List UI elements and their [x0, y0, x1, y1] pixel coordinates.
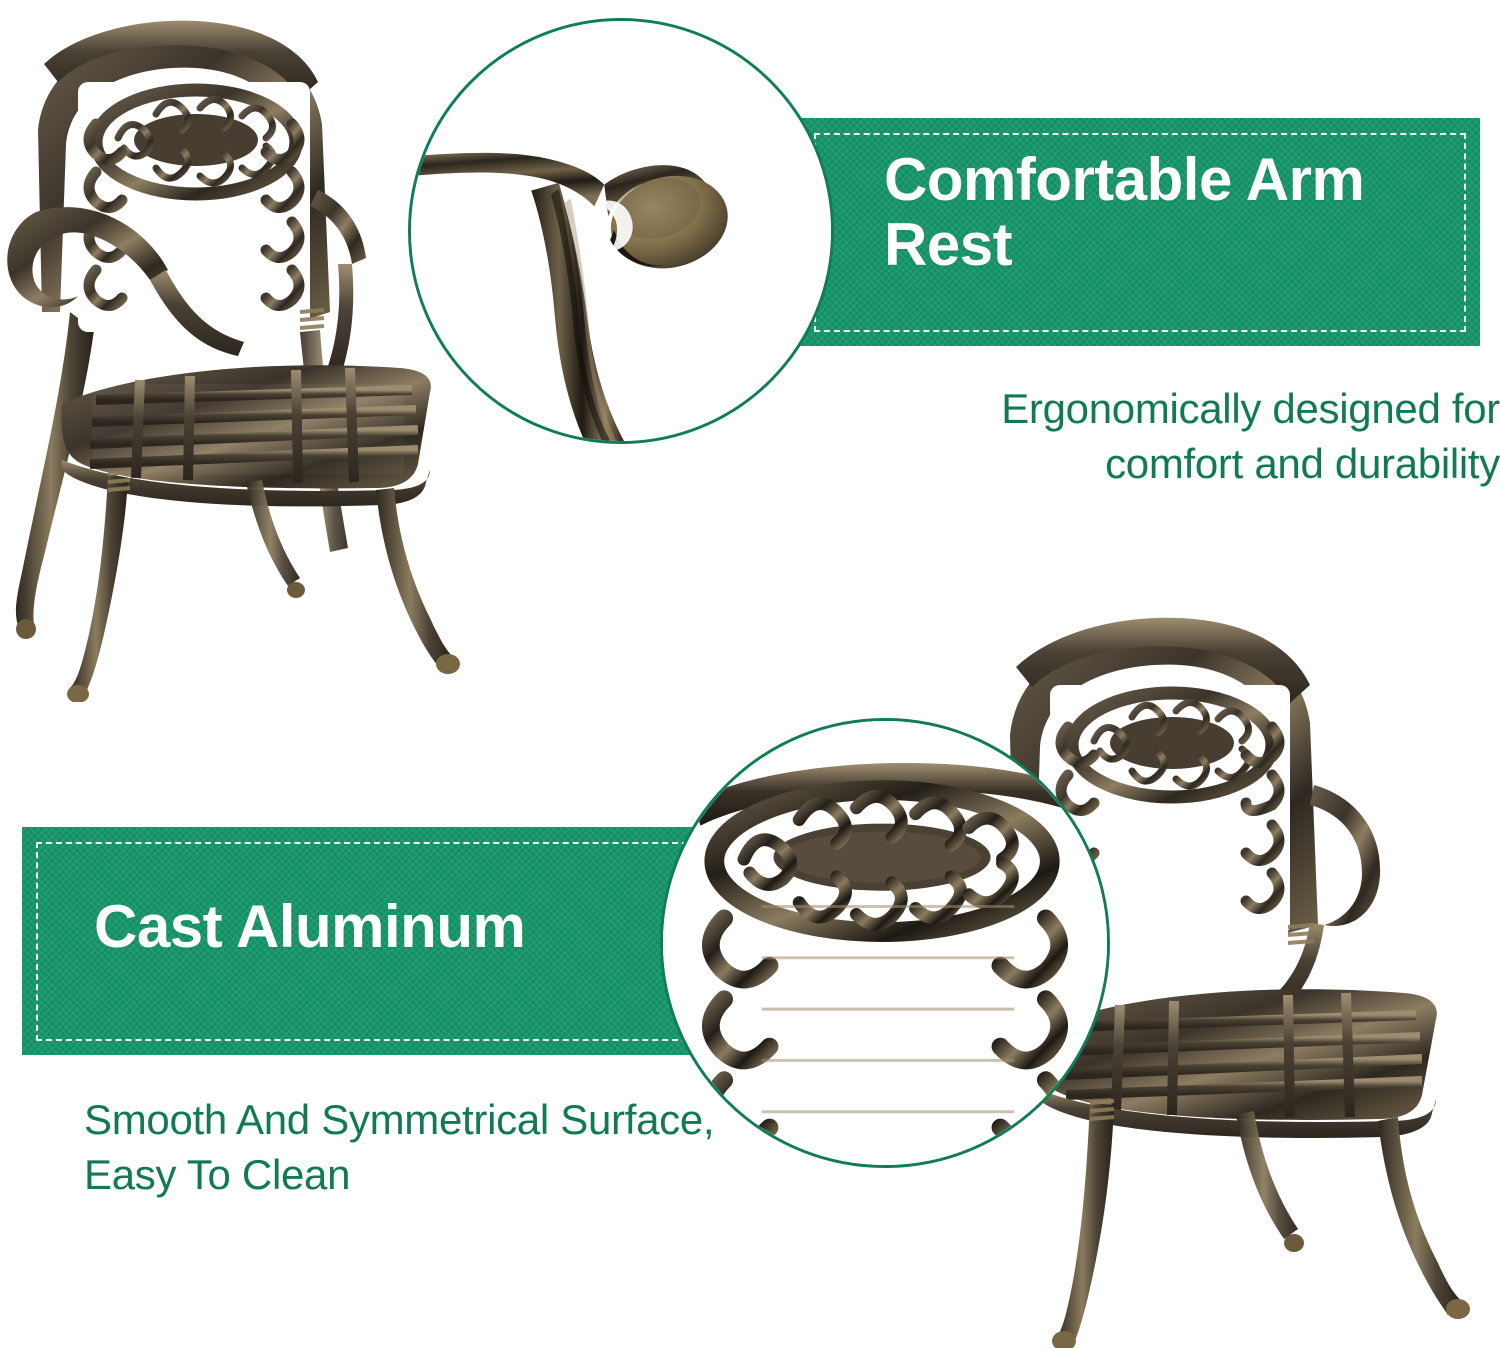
- banner-title-cast-aluminum: Cast Aluminum: [94, 895, 654, 960]
- cast-aluminum-zoom-circle: [660, 718, 1110, 1168]
- feature-subtitle-arm-rest: Ergonomically designed for comfort and d…: [900, 382, 1500, 491]
- feature-subtitle-cast-aluminum: Smooth And Symmetrical Surface, Easy To …: [84, 1093, 724, 1202]
- feature-banner-arm-rest: Comfortable Arm Rest: [800, 118, 1480, 346]
- banner-title-arm-rest: Comfortable Arm Rest: [884, 148, 1454, 278]
- feature-banner-cast-aluminum: Cast Aluminum: [22, 827, 712, 1055]
- lattice-closeup-image: [663, 721, 1107, 1165]
- product-feature-infographic: Comfortable Arm Rest Cast Aluminum: [0, 0, 1500, 1348]
- arm-rest-zoom-circle: [408, 18, 834, 444]
- arm-rest-closeup-image: [411, 21, 831, 441]
